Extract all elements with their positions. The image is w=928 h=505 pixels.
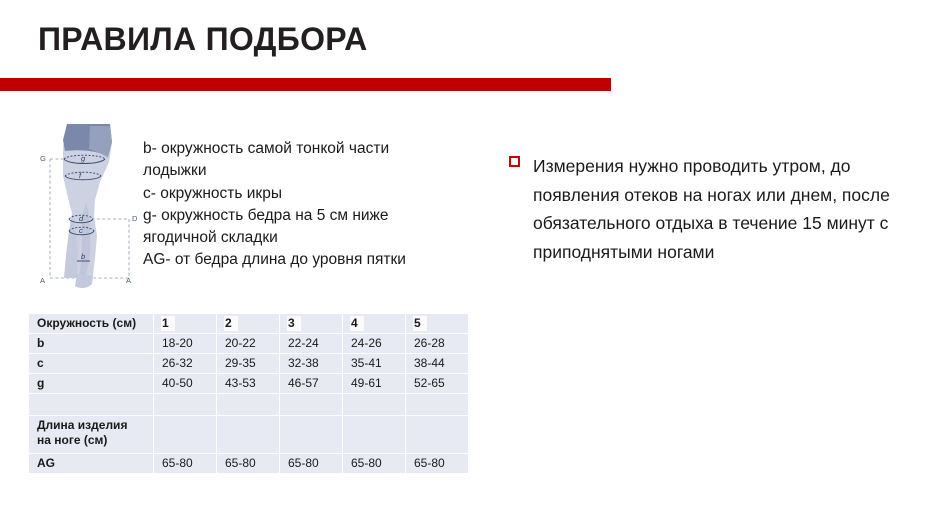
row-label-ag: AG xyxy=(29,454,154,474)
cell-b-5: 26-28 xyxy=(406,334,469,354)
svg-text:G: G xyxy=(40,154,46,163)
cell-c-4: 35-41 xyxy=(343,354,406,374)
table-header-row: Окружность (см) 1 2 3 4 5 xyxy=(29,314,468,334)
cell-b-3: 22-24 xyxy=(280,334,343,354)
cell-ag-5: 65-80 xyxy=(406,454,469,474)
header-size-2: 2 xyxy=(217,314,280,334)
table-section-row: Длина изделия на ноге (см) xyxy=(29,416,468,454)
svg-text:D: D xyxy=(132,214,138,223)
spacer-cell-3 xyxy=(280,394,343,416)
cell-c-5: 38-44 xyxy=(406,354,469,374)
page-title: ПРАВИЛА ПОДБОРА xyxy=(38,19,368,59)
spacer-cell-4 xyxy=(343,394,406,416)
spacer-cell-2 xyxy=(217,394,280,416)
section-cell-5 xyxy=(406,416,469,454)
cell-b-4: 24-26 xyxy=(343,334,406,354)
cell-b-1: 18-20 xyxy=(154,334,217,354)
table-row-b: b 18-20 20-22 22-24 24-26 26-28 xyxy=(29,334,468,354)
cell-c-3: 32-38 xyxy=(280,354,343,374)
table-row-c: c 26-32 29-35 32-38 35-41 38-44 xyxy=(29,354,468,374)
cell-ag-3: 65-80 xyxy=(280,454,343,474)
table-row-ag: AG 65-80 65-80 65-80 65-80 65-80 xyxy=(29,454,468,474)
spacer-cell-5 xyxy=(406,394,469,416)
section-cell-4 xyxy=(343,416,406,454)
legend-line-g: g- окружность бедра на 5 см ниже ягодичн… xyxy=(143,205,443,250)
leg-measurement-diagram: g f d c b G D A A xyxy=(34,118,146,293)
cell-g-3: 46-57 xyxy=(280,374,343,394)
svg-text:A: A xyxy=(40,276,45,285)
cell-g-2: 43-53 xyxy=(217,374,280,394)
red-square-bullet-icon xyxy=(509,156,520,167)
measurement-note: Измерения нужно проводить утром, до появ… xyxy=(509,152,911,266)
section-cell-2 xyxy=(217,416,280,454)
measurement-legend: b- окружность самой тонкой части лодыжки… xyxy=(143,138,443,272)
legend-line-b: b- окружность самой тонкой части лодыжки xyxy=(143,138,443,183)
cell-ag-2: 65-80 xyxy=(217,454,280,474)
row-label-c: c xyxy=(29,354,154,374)
note-text: Измерения нужно проводить утром, до появ… xyxy=(533,152,911,266)
cell-ag-1: 65-80 xyxy=(154,454,217,474)
legend-line-ag: AG- от бедра длина до уровня пятки xyxy=(143,249,443,271)
section-cell-1 xyxy=(154,416,217,454)
title-accent-bar xyxy=(0,78,611,91)
section-cell-3 xyxy=(280,416,343,454)
cell-b-2: 20-22 xyxy=(217,334,280,354)
svg-text:A: A xyxy=(126,276,131,285)
table-row-g: g 40-50 43-53 46-57 49-61 52-65 xyxy=(29,374,468,394)
size-chart-table: Окружность (см) 1 2 3 4 5 b 18-20 20-22 … xyxy=(29,314,468,473)
cell-c-2: 29-35 xyxy=(217,354,280,374)
cell-g-1: 40-50 xyxy=(154,374,217,394)
row-label-g: g xyxy=(29,374,154,394)
cell-c-1: 26-32 xyxy=(154,354,217,374)
leg-silhouette xyxy=(63,124,112,288)
section-label: Длина изделия на ноге (см) xyxy=(29,416,154,454)
header-size-3: 3 xyxy=(280,314,343,334)
header-size-4: 4 xyxy=(343,314,406,334)
svg-text:c: c xyxy=(79,226,83,235)
header-size-5: 5 xyxy=(406,314,469,334)
header-size-1: 1 xyxy=(154,314,217,334)
legend-line-c: c- окружность икры xyxy=(143,183,443,205)
cell-g-5: 52-65 xyxy=(406,374,469,394)
cell-ag-4: 65-80 xyxy=(343,454,406,474)
cell-g-4: 49-61 xyxy=(343,374,406,394)
svg-text:b: b xyxy=(81,252,85,261)
table-spacer-row xyxy=(29,394,468,416)
spacer-cell-1 xyxy=(154,394,217,416)
row-label-b: b xyxy=(29,334,154,354)
spacer-label xyxy=(29,394,154,416)
header-label: Окружность (см) xyxy=(29,314,154,334)
